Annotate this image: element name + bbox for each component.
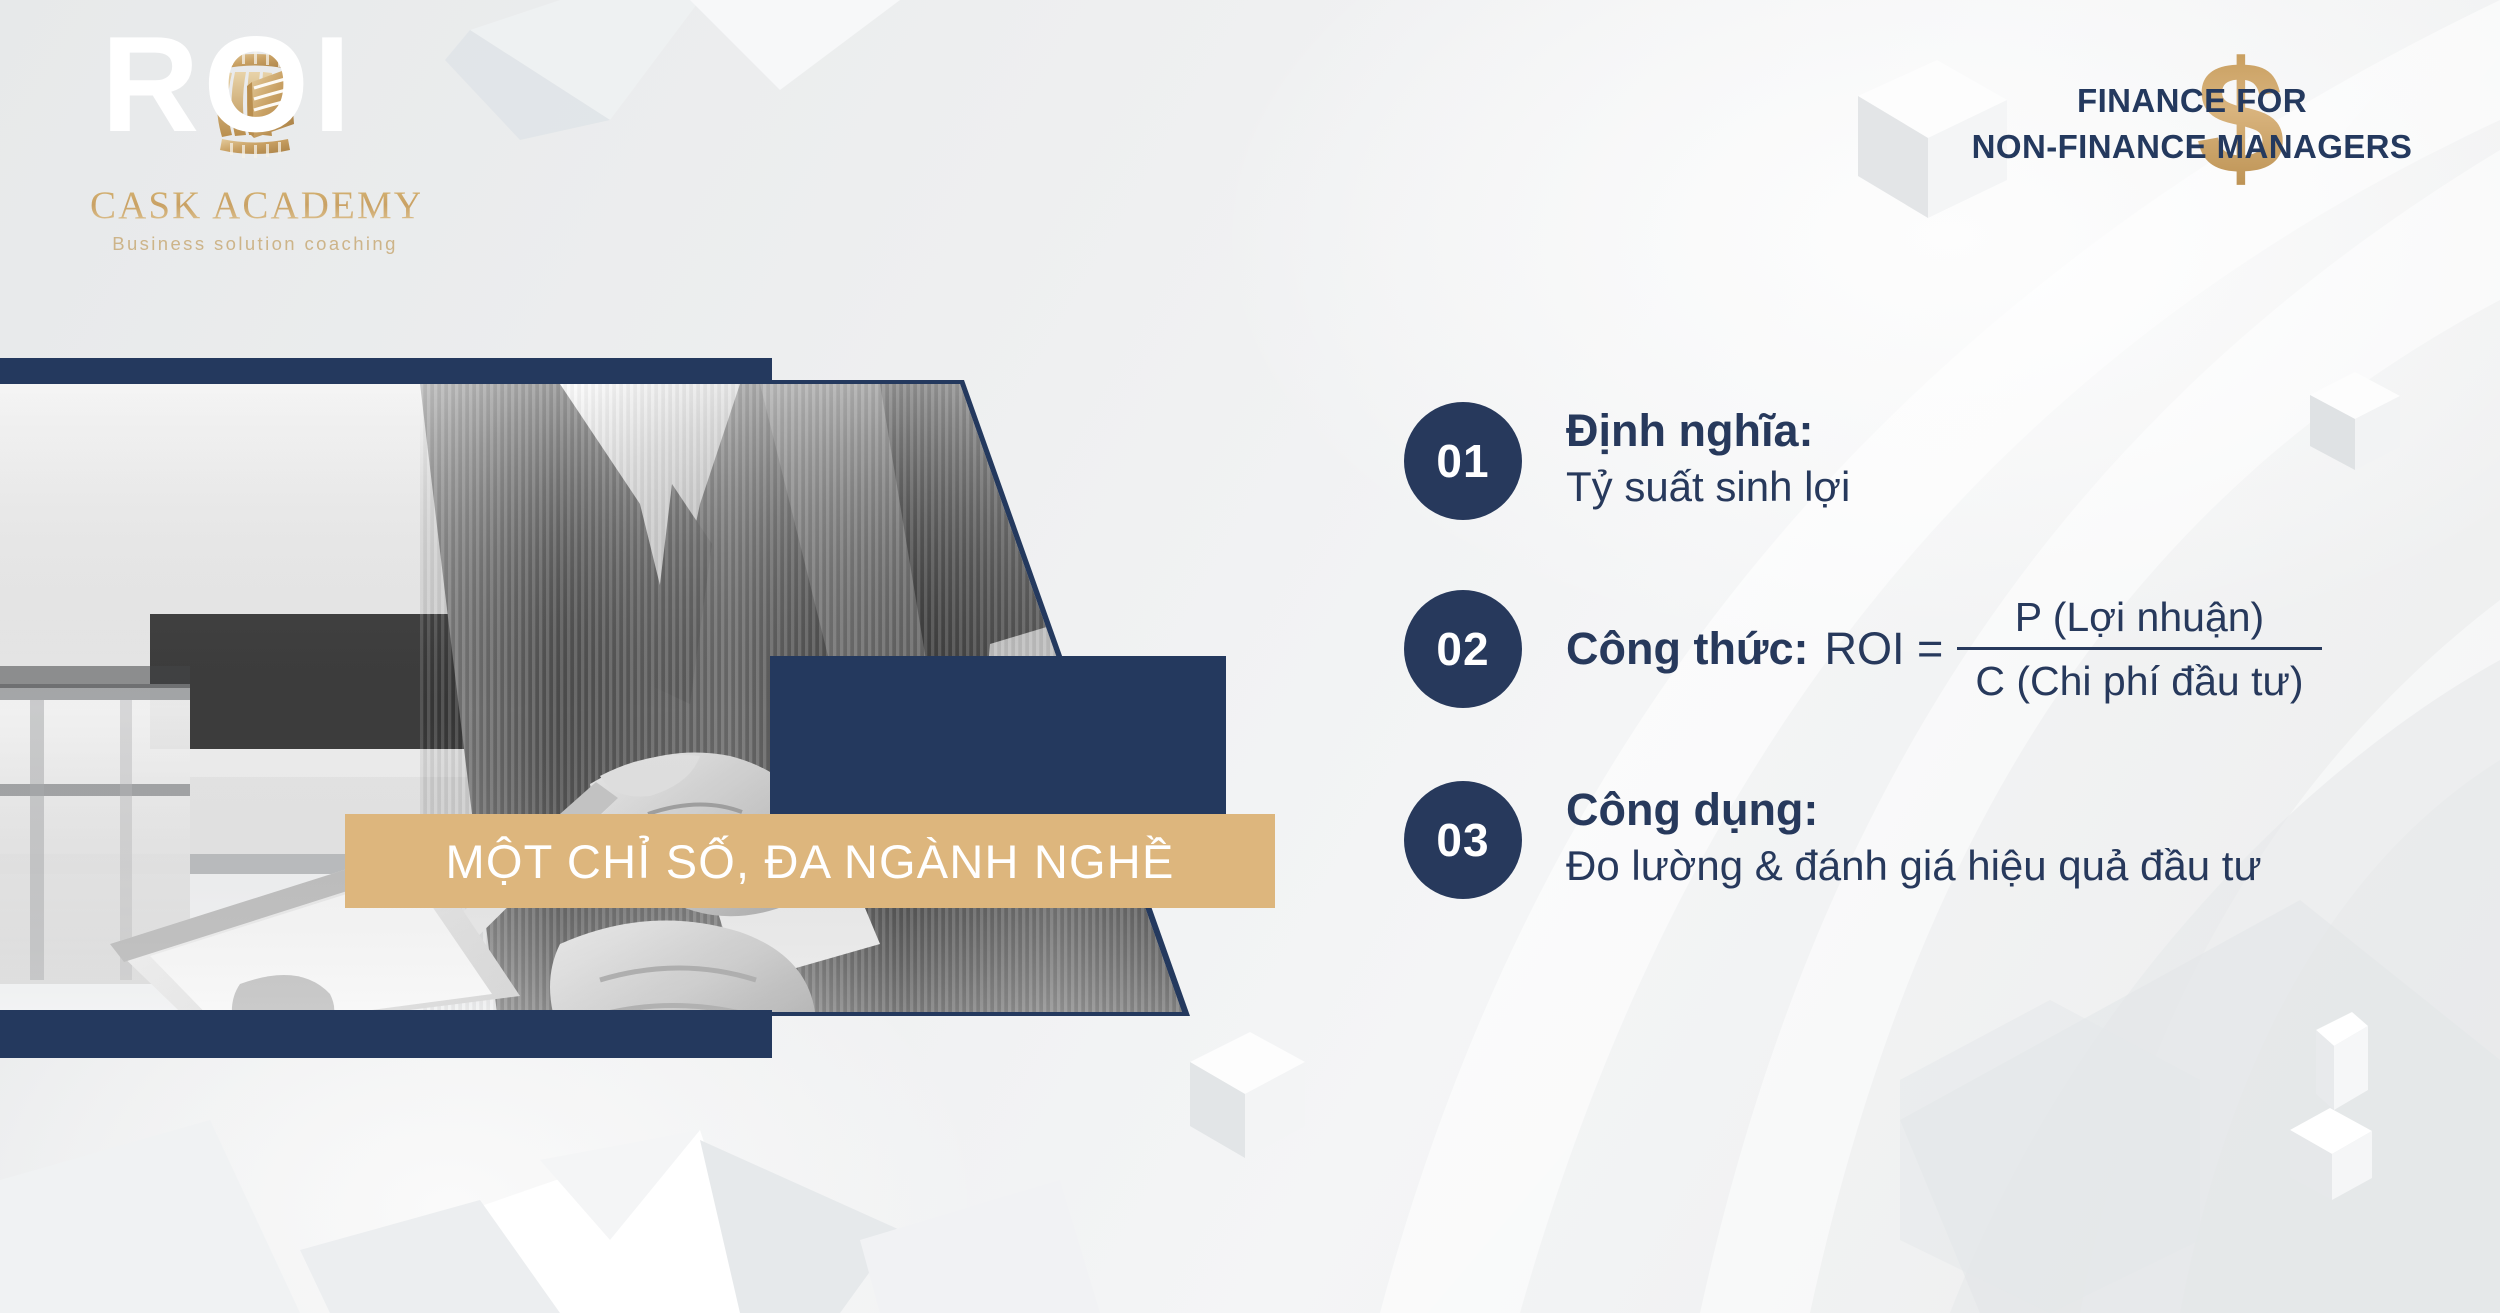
poly-top-3 xyxy=(690,0,900,90)
roi-formula: Công thức: ROI = P (Lợi nhuận) C (Chi ph… xyxy=(1566,588,2484,705)
program-line-2: NON-FINANCE MANAGERS xyxy=(1912,124,2472,170)
formula-denominator: C (Chi phí đầu tư) xyxy=(1957,650,2321,705)
formula-lhs: ROI = xyxy=(1825,623,1944,675)
formula-fraction: P (Lợi nhuận) C (Chi phí đầu tư) xyxy=(1957,594,2321,705)
formula-numerator: P (Lợi nhuận) xyxy=(1957,594,2321,647)
poly-bottom-5 xyxy=(860,1180,1100,1313)
program-badge: $ FINANCE FOR NON-FINANCE MANAGERS xyxy=(1912,60,2472,190)
point-number-badge: 01 xyxy=(1404,402,1522,520)
point-description: Đo lường & đánh giá hiệu quả đầu tư xyxy=(1566,840,2484,893)
point-description: Tỷ suất sinh lợi xyxy=(1566,461,2484,514)
point-body: Định nghĩa: Tỷ suất sinh lợi xyxy=(1566,400,2484,514)
key-point-01: 01 Định nghĩa: Tỷ suất sinh lợi xyxy=(1404,400,2484,514)
point-title: Công thức: xyxy=(1566,623,1809,675)
key-points-list: 01 Định nghĩa: Tỷ suất sinh lợi 02 Công … xyxy=(1404,400,2484,892)
point-number-badge: 03 xyxy=(1404,781,1522,899)
program-title: FINANCE FOR NON-FINANCE MANAGERS xyxy=(1912,78,2472,170)
roi-subtitle: MỘT CHỈ SỐ, ĐA NGÀNH NGHỀ xyxy=(345,814,1275,908)
point-title: Định nghĩa: xyxy=(1566,404,2484,457)
key-point-03: 03 Công dụng: Đo lường & đánh giá hiệu q… xyxy=(1404,779,2484,893)
brand-name: CASK ACADEMY xyxy=(90,183,420,228)
poster-canvas: CASK ACADEMY Business solution coaching … xyxy=(0,0,2500,1313)
point-title: Công dụng: xyxy=(1566,783,2484,836)
photo-bottom-accent-bar xyxy=(0,1010,772,1058)
point-number-badge: 02 xyxy=(1404,590,1522,708)
program-line-1: FINANCE FOR xyxy=(1912,78,2472,124)
key-point-02: 02 Công thức: ROI = P (Lợi nhuận) C (Chi… xyxy=(1404,588,2484,705)
roi-title-block xyxy=(770,656,1226,824)
poly-bottom-6 xyxy=(0,1120,300,1313)
point-body: Công dụng: Đo lường & đánh giá hiệu quả … xyxy=(1566,779,2484,893)
roi-title: ROI xyxy=(0,0,456,168)
brand-tagline: Business solution coaching xyxy=(90,233,420,255)
